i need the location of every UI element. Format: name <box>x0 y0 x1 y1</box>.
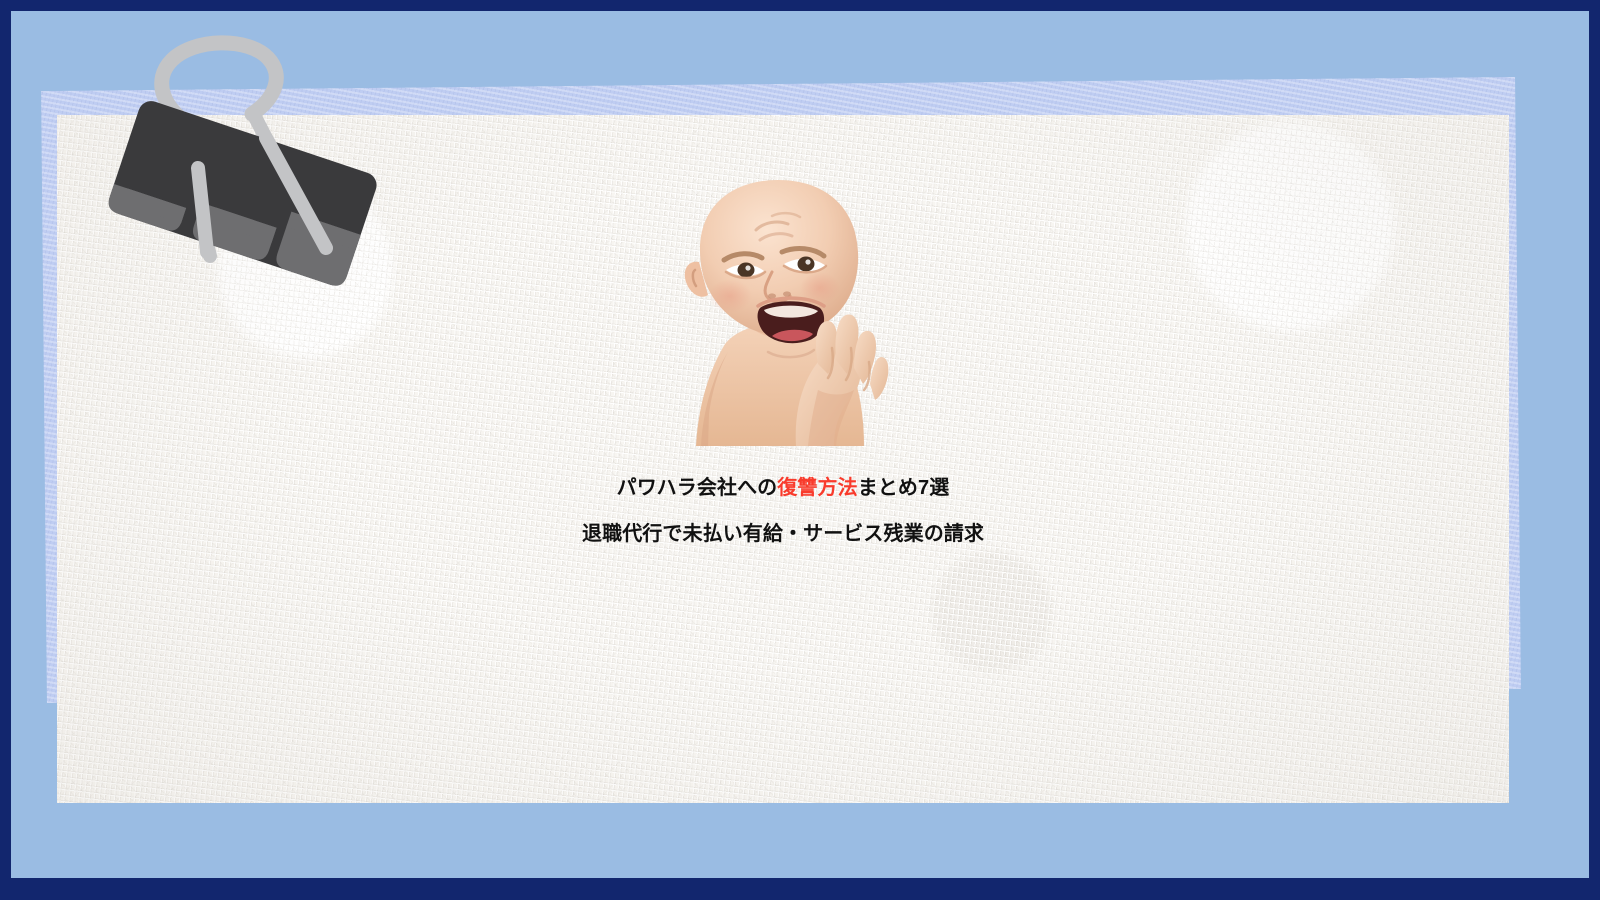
angry-baby-photo <box>668 176 890 446</box>
headline-line-1-segment-1: 復讐方法 <box>777 477 857 499</box>
headline-line-1: パワハラ会社への復讐方法まとめ7選 <box>57 478 1509 498</box>
clip-body <box>105 98 380 289</box>
headline-line-2: 退職代行で未払い有給・サービス残業の請求 <box>57 524 1509 544</box>
headline-line-1-segment-0: パワハラ会社への <box>617 477 778 499</box>
binder-clip-icon <box>88 18 388 288</box>
eyecatch-canvas: パワハラ会社への復讐方法まとめ7選 退職代行で未払い有給・サービス残業の請求 <box>0 0 1600 900</box>
headline-line-2-segment-0: 退職代行で未払い有給・サービス残業の請求 <box>582 523 984 545</box>
headline: パワハラ会社への復讐方法まとめ7選 退職代行で未払い有給・サービス残業の請求 <box>57 478 1509 544</box>
headline-line-1-segment-2: まとめ7選 <box>858 477 950 499</box>
